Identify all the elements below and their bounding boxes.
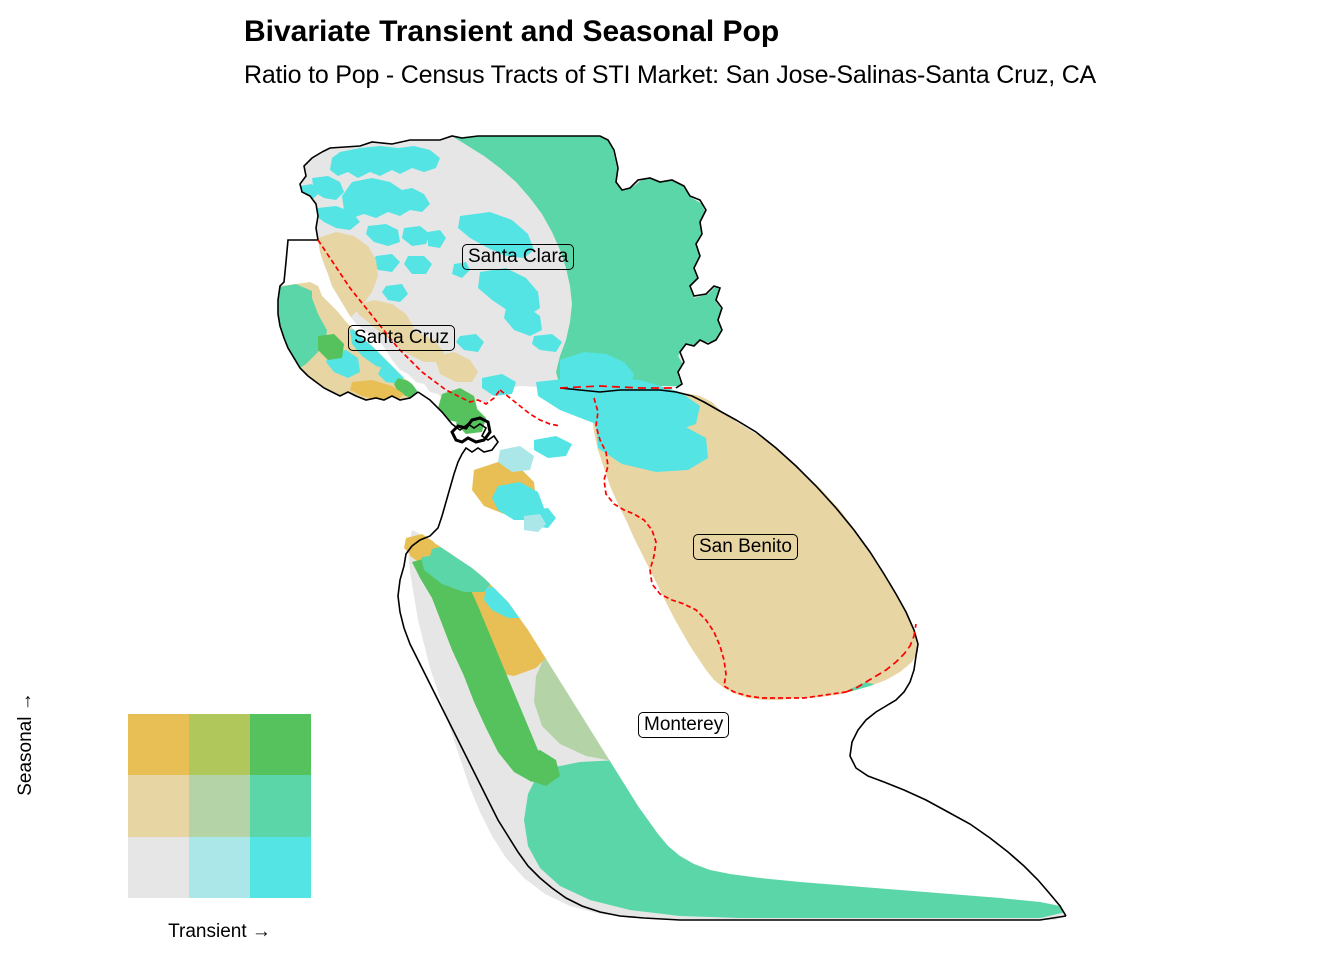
- legend-cell-r2c2: [250, 837, 311, 898]
- tract-group: [524, 760, 1066, 918]
- legend-cell-r0c1: [189, 714, 250, 775]
- legend-cell-r0c2: [250, 714, 311, 775]
- map-label-san-benito: San Benito: [693, 534, 798, 560]
- legend-x-axis-label: Transient →: [128, 920, 311, 944]
- tract-group: [534, 436, 572, 458]
- legend-cell-r1c1: [189, 775, 250, 836]
- map-label-santa-cruz: Santa Cruz: [348, 325, 455, 351]
- legend-y-axis-label: Seasonal →: [11, 652, 41, 836]
- bivariate-legend: [128, 714, 311, 898]
- figure-canvas: Bivariate Transient and Seasonal Pop Rat…: [0, 0, 1344, 960]
- map-label-monterey: Monterey: [638, 712, 729, 738]
- map-label-santa-clara: Santa Clara: [462, 244, 574, 270]
- legend-cell-r1c0: [128, 775, 189, 836]
- legend-cell-r0c0: [128, 714, 189, 775]
- legend-cell-r2c1: [189, 837, 250, 898]
- legend-cell-r2c0: [128, 837, 189, 898]
- legend-cell-r1c2: [250, 775, 311, 836]
